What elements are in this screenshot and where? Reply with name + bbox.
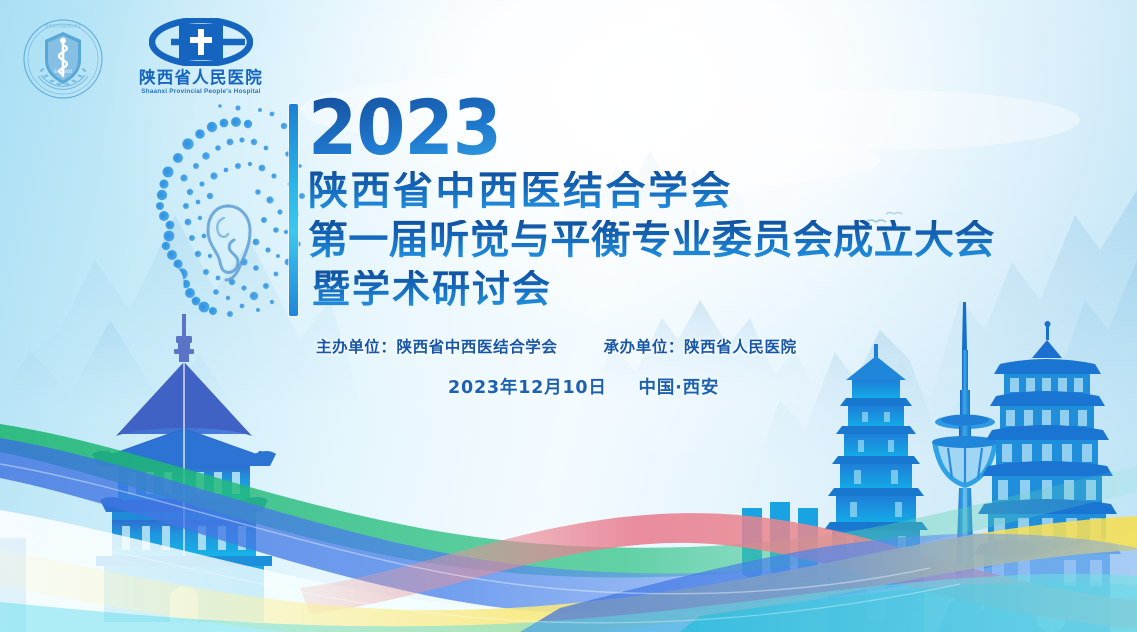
year-heading: 2023 bbox=[308, 96, 501, 160]
modern-sculpture bbox=[742, 502, 818, 578]
conference-banner: 陕西省中西医结合学会 SHAANXI 陕西省人民医院 Shaanxi Provi… bbox=[0, 0, 1137, 632]
hospital-logo: 陕西省人民医院 Shaanxi Provincial People's Hosp… bbox=[134, 18, 268, 95]
society-circular-emblem-icon: 陕西省中西医结合学会 SHAANXI bbox=[22, 18, 104, 100]
logo-row: 陕西省中西医结合学会 SHAANXI 陕西省人民医院 Shaanxi Provi… bbox=[22, 18, 268, 100]
event-date: 2023年12月10日 bbox=[448, 378, 607, 398]
svg-text:陕西省中西医结合学会: 陕西省中西医结合学会 bbox=[45, 23, 81, 28]
host-organizer: 主办单位：陕西省中西医结合学会 bbox=[316, 338, 558, 356]
date-location-row: 2023年12月10日 中国·西安 bbox=[448, 374, 998, 399]
hospital-cross-oval-icon bbox=[134, 18, 268, 66]
ear-head-particle-graphic bbox=[138, 96, 308, 336]
ear-icon bbox=[208, 206, 250, 280]
title-line-2: 第一届听觉与平衡专业委员会成立大会 bbox=[308, 220, 998, 260]
city-buildings bbox=[0, 538, 26, 632]
decorative-waves bbox=[0, 402, 1137, 632]
xian-bell-tower bbox=[92, 314, 276, 622]
hospital-name-en: Shaanxi Provincial People's Hospital bbox=[133, 88, 270, 95]
svg-text:SHAANXI: SHAANXI bbox=[54, 69, 72, 74]
event-location: 中国·西安 bbox=[639, 378, 720, 398]
organizers-row: 主办单位：陕西省中西医结合学会 承办单位：陕西省人民医院 bbox=[316, 335, 998, 357]
accent-bar bbox=[289, 104, 298, 316]
co-organizer: 承办单位：陕西省人民医院 bbox=[604, 338, 797, 356]
title-block: 2023 陕西省中西医结合学会 第一届听觉与平衡专业委员会成立大会 暨学术研讨会… bbox=[308, 96, 998, 399]
title-line-1: 陕西省中西医结合学会 bbox=[308, 171, 998, 211]
society-logo: 陕西省中西医结合学会 SHAANXI bbox=[22, 18, 104, 100]
city-buildings bbox=[894, 506, 1096, 632]
hospital-name-cn: 陕西省人民医院 bbox=[134, 69, 268, 87]
title-line-3: 暨学术研讨会 bbox=[312, 270, 998, 308]
